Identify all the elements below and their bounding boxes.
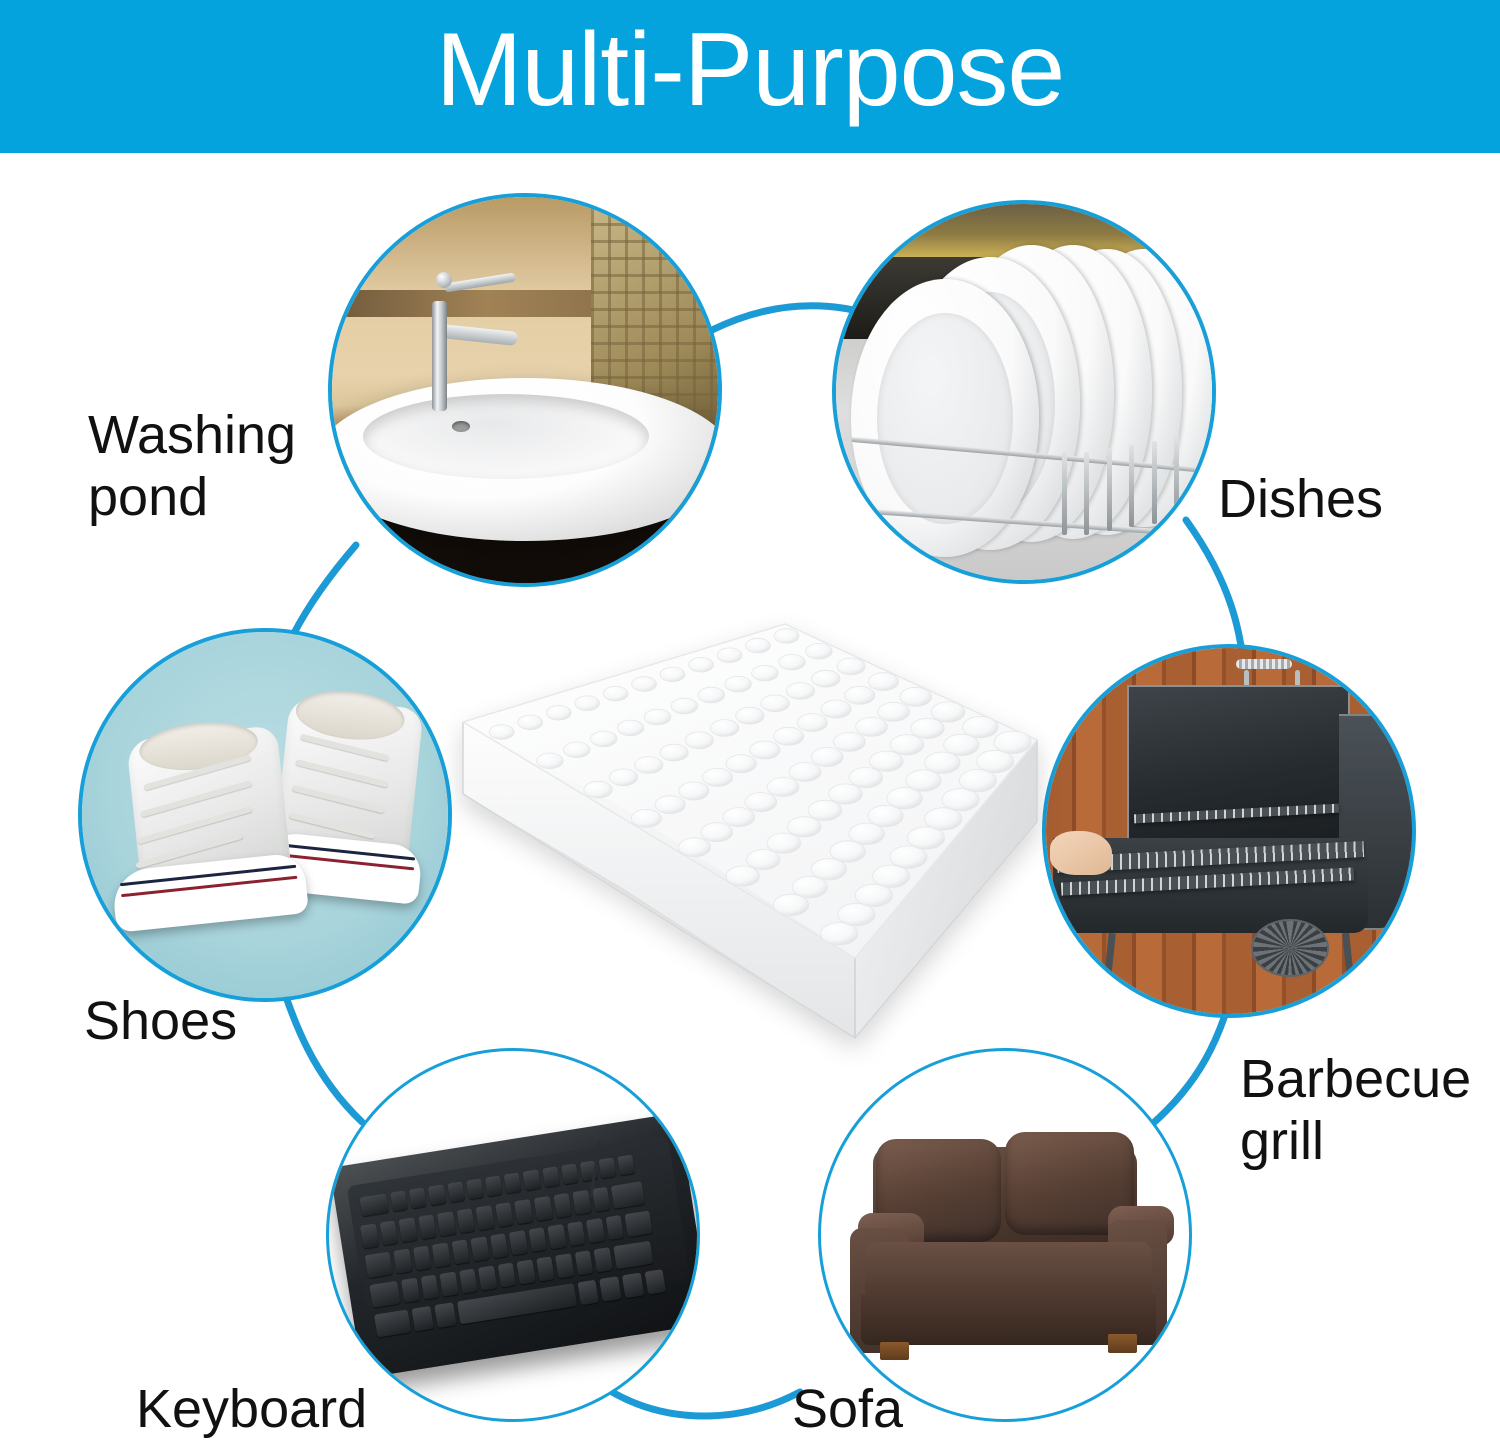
sponge-dimple bbox=[603, 686, 628, 701]
use-circle-washing-pond[interactable] bbox=[328, 193, 722, 587]
sponge-dimple bbox=[698, 687, 725, 703]
sponge-dimple bbox=[873, 865, 910, 887]
sponge-dimple bbox=[701, 823, 733, 842]
seat-cushions bbox=[865, 1242, 1152, 1301]
center-product-sponge bbox=[455, 608, 1045, 1058]
rack-slot bbox=[1174, 437, 1179, 520]
rack-slot bbox=[1152, 441, 1157, 524]
label-barbecue-grill: Barbecue grill bbox=[1240, 1048, 1471, 1172]
sink-bowl bbox=[363, 394, 649, 479]
sponge-dimple bbox=[546, 706, 571, 721]
sponge-dimple bbox=[931, 702, 965, 722]
sponge-dimple bbox=[736, 707, 764, 724]
sponge-dimple bbox=[856, 717, 888, 736]
sponge-dimple bbox=[723, 808, 755, 827]
sponge-dimple bbox=[806, 643, 833, 659]
sponge-dimple bbox=[963, 716, 998, 737]
sponge-dimple bbox=[635, 757, 663, 774]
sponge-dimple bbox=[685, 732, 713, 749]
label-shoes: Shoes bbox=[84, 990, 237, 1052]
sponge-dimple bbox=[617, 720, 644, 736]
sponge-dimple bbox=[584, 781, 612, 798]
sponge-dimple bbox=[845, 686, 875, 704]
sponge-dimple bbox=[829, 784, 863, 804]
sponge-dimple bbox=[767, 833, 801, 853]
sponge-dimple bbox=[725, 676, 752, 692]
label-sofa: Sofa bbox=[792, 1378, 903, 1440]
sponge-dimple bbox=[752, 665, 779, 681]
sponge-dimple bbox=[870, 751, 904, 771]
sponge-illustration bbox=[455, 608, 1045, 1058]
use-circle-shoes[interactable] bbox=[78, 628, 452, 1002]
use-circle-keyboard[interactable] bbox=[326, 1048, 700, 1422]
sink-overflow-hole bbox=[452, 421, 470, 432]
sponge-dimple bbox=[631, 809, 661, 827]
sponge-dimple bbox=[767, 778, 799, 797]
sponge-dimple bbox=[717, 648, 742, 663]
sponge-dimple bbox=[679, 782, 709, 800]
sponge-dimple bbox=[774, 629, 799, 644]
sponge-dimple bbox=[537, 753, 564, 769]
vent-wheel bbox=[1251, 919, 1329, 977]
label-dishes: Dishes bbox=[1218, 468, 1383, 530]
label-washing-pond: Washing pond bbox=[88, 404, 296, 528]
sponge-dimple bbox=[774, 727, 804, 745]
sponge-dimple bbox=[726, 755, 756, 773]
keyboard bbox=[329, 1113, 700, 1379]
sponge-dimple bbox=[994, 731, 1031, 753]
rack-slot bbox=[1107, 448, 1112, 531]
sponge-dimple bbox=[811, 748, 843, 767]
sponge-dimple bbox=[702, 768, 732, 786]
sponge-dimple bbox=[660, 744, 688, 761]
sponge-dimple bbox=[808, 800, 842, 820]
rack-slot bbox=[1062, 452, 1067, 535]
sponge-dimple bbox=[575, 696, 600, 711]
sponge-dimple bbox=[788, 817, 822, 837]
sneaker-front bbox=[91, 703, 322, 979]
sponge-dimple bbox=[761, 695, 789, 712]
sponge-dimple bbox=[679, 838, 711, 857]
sponge-dimple bbox=[632, 677, 657, 692]
label-keyboard: Keyboard bbox=[136, 1378, 367, 1440]
sponge-dimple bbox=[789, 763, 821, 782]
sponge-dimple bbox=[797, 714, 827, 732]
sponge-dimple bbox=[660, 667, 685, 682]
use-circle-dishes[interactable] bbox=[832, 200, 1216, 584]
sponge-dimple bbox=[812, 670, 840, 687]
arc-key-sofa bbox=[612, 1392, 800, 1416]
sponge-dimple bbox=[868, 673, 898, 691]
rack-slot bbox=[1084, 452, 1089, 535]
sponge-dimple bbox=[849, 768, 883, 788]
sofa-foot bbox=[880, 1342, 909, 1360]
sponge-dimple bbox=[671, 698, 698, 714]
sponge-dimple bbox=[644, 709, 671, 725]
sponge-dimple bbox=[977, 750, 1014, 772]
lid-handle bbox=[1236, 659, 1292, 669]
use-circle-barbecue-grill[interactable] bbox=[1042, 644, 1416, 1018]
hand bbox=[1050, 831, 1112, 875]
sponge-dimple bbox=[745, 793, 777, 812]
sponge-dimple bbox=[655, 796, 685, 814]
sponge-dimple bbox=[746, 638, 771, 653]
sponge-dimple bbox=[564, 742, 591, 758]
sponge-dimple bbox=[821, 923, 858, 945]
sponge-dimple bbox=[518, 715, 543, 730]
use-circle-sofa[interactable] bbox=[818, 1048, 1192, 1422]
grill-lid bbox=[1127, 685, 1351, 848]
sponge-dimple bbox=[878, 702, 910, 721]
sponge-dimple bbox=[747, 850, 781, 870]
sponge-dimple bbox=[726, 866, 760, 886]
sponge-dimple bbox=[900, 687, 932, 706]
sponge-dimple bbox=[786, 683, 814, 700]
sponge-dimple bbox=[837, 658, 865, 675]
sponge-dimple bbox=[890, 735, 924, 755]
sponge-dimple bbox=[590, 731, 617, 747]
sponge-dimple bbox=[779, 654, 806, 670]
plate-well bbox=[877, 313, 1012, 524]
rack-slot bbox=[1129, 445, 1134, 528]
sponge-dimple bbox=[925, 808, 962, 830]
sponge-dimple bbox=[821, 700, 851, 718]
sponge-dimple bbox=[609, 769, 637, 786]
sponge-dimple bbox=[489, 725, 514, 740]
sponge-dimple bbox=[710, 720, 738, 737]
sponge-dimple bbox=[750, 741, 780, 759]
sponge-dimple bbox=[689, 658, 714, 673]
sponge-dimple bbox=[834, 732, 866, 751]
sponge-dimple bbox=[911, 718, 945, 738]
faucet-body bbox=[432, 301, 447, 411]
sofa-foot bbox=[1108, 1334, 1137, 1352]
